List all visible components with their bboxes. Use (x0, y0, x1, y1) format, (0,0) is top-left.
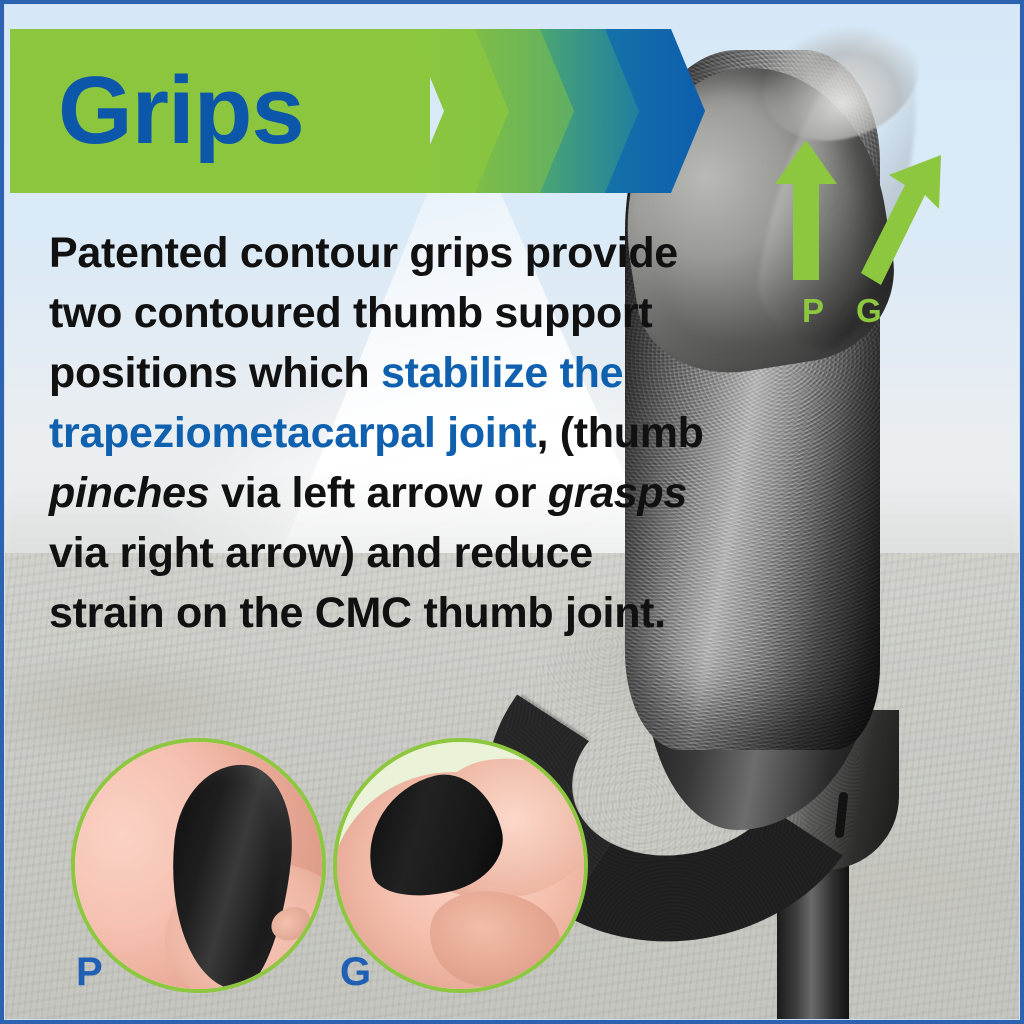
infographic-root: P G Grips Patented contour grips provide… (0, 0, 1024, 1024)
frame-inner-line (4, 4, 1020, 1020)
